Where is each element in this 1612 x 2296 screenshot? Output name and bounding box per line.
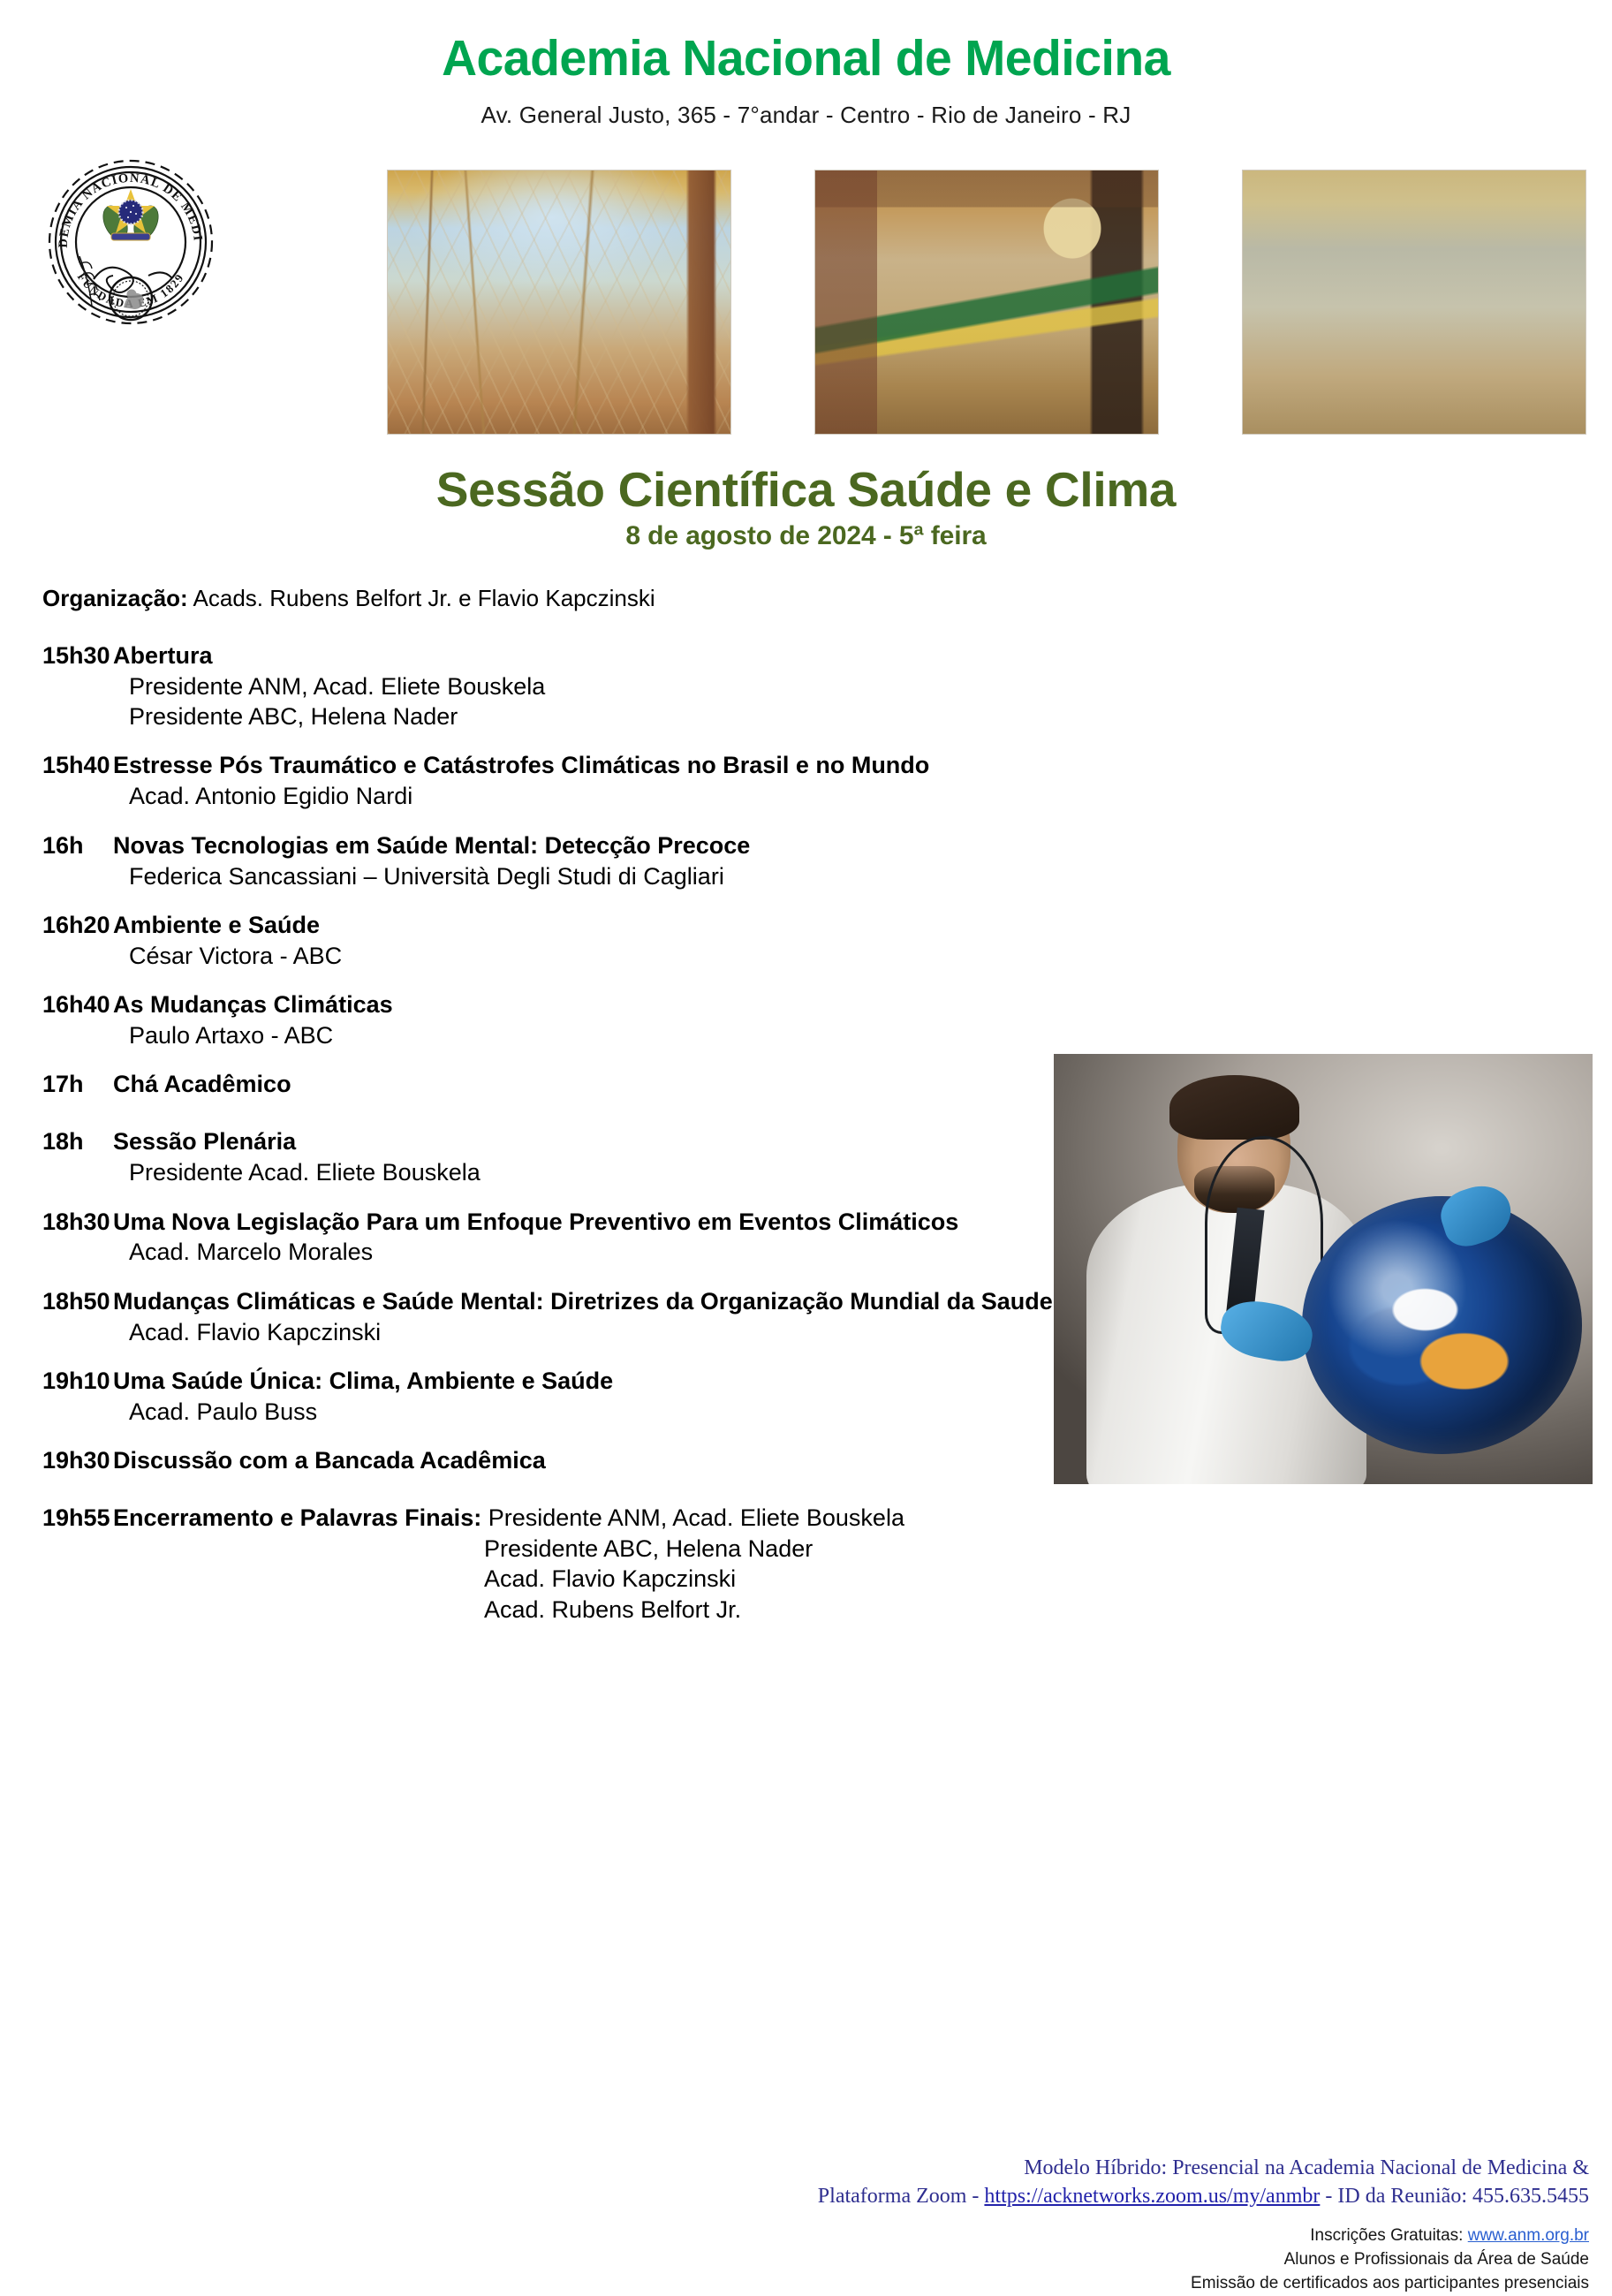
closing-label: Encerramento e Palavras Finais: — [113, 1504, 481, 1531]
program-speaker: Presidente Acad. Eliete Bouskela — [113, 1158, 1612, 1186]
program-item-8: 18h30 Uma Nova Legislação Para um Enfoqu… — [0, 1209, 1612, 1267]
program-title: Abertura — [113, 642, 1612, 671]
header-paintings-row — [387, 170, 1588, 435]
program-speaker: Presidente ABC, Helena Nader — [113, 702, 1612, 731]
program-item-2: 15h40 Estresse Pós Traumático e Catástro… — [0, 752, 1612, 810]
program-speaker: César Victora - ABC — [113, 942, 1612, 970]
program-time: 15h30 — [0, 642, 113, 731]
program-title: Estresse Pós Traumático e Catástrofes Cl… — [113, 752, 1612, 780]
organization-address: Av. General Justo, 365 - 7°andar - Centr… — [0, 102, 1612, 129]
program-time: 16h20 — [0, 912, 113, 970]
program-item-9: 18h50 Mudanças Climáticas e Saúde Mental… — [0, 1288, 1612, 1346]
program-title: Ambiente e Saúde — [113, 912, 1612, 940]
program-title-closing: Encerramento e Palavras Finais: Presiden… — [113, 1504, 1612, 1533]
program-time: 19h10 — [0, 1368, 113, 1426]
anm-website-link[interactable]: www.anm.org.br — [1468, 2226, 1589, 2245]
program-title: Uma Nova Legislação Para um Enfoque Prev… — [113, 1209, 1612, 1237]
program-title: Mudanças Climáticas e Saúde Mental: Dire… — [113, 1288, 1612, 1316]
program-item-11: 19h30 Discussão com a Bancada Acadêmica — [0, 1447, 1612, 1475]
program-speaker: Acad. Marcelo Morales — [113, 1238, 1612, 1266]
session-title-block: Sessão Científica Saúde e Clima 8 de ago… — [0, 465, 1612, 551]
session-date: 8 de agosto de 2024 - 5ª feira — [0, 521, 1612, 551]
coat-of-arms-icon — [98, 189, 163, 243]
program-time: 17h — [0, 1071, 113, 1099]
registration-line: Inscrições Gratuitas: www.anm.org.br — [1191, 2224, 1589, 2248]
program-item-4: 16h20 Ambiente e Saúde César Victora - A… — [0, 912, 1612, 970]
program-time: 19h30 — [0, 1447, 113, 1475]
program-time: 16h — [0, 832, 113, 890]
program-time: 19h55 — [0, 1504, 113, 1624]
program-title: Discussão com a Bancada Acadêmica — [113, 1447, 1612, 1475]
program-time: 18h — [0, 1128, 113, 1186]
program-speaker: Presidente ANM, Acad. Eliete Bouskela — [113, 672, 1612, 701]
registration-footer: Inscrições Gratuitas: www.anm.org.br Alu… — [1191, 2224, 1589, 2296]
hybrid-line-1: Modelo Híbrido: Presencial na Academia N… — [0, 2154, 1589, 2182]
painting-physicians-white-coats — [1242, 170, 1586, 435]
organizacao-value: Acads. Rubens Belfort Jr. e Flavio Kapcz… — [193, 585, 655, 611]
program-item-7: 18h Sessão Plenária Presidente Acad. Eli… — [0, 1128, 1612, 1186]
program-item-10: 19h10 Uma Saúde Única: Clima, Ambiente e… — [0, 1368, 1612, 1426]
hybrid-mode-footer: Modelo Híbrido: Presencial na Academia N… — [0, 2154, 1589, 2211]
certificate-line: Emissão de certificados aos participante… — [1191, 2272, 1589, 2296]
zoom-meeting-id: - ID da Reunião: 455.635.5455 — [1320, 2185, 1589, 2208]
hybrid-line-2: Plataforma Zoom - https://acknetworks.zo… — [0, 2182, 1589, 2210]
program-time: 16h40 — [0, 991, 113, 1049]
audience-line: Alunos e Profissionais da Área de Saúde — [1191, 2248, 1589, 2272]
organizacao-label: Organização: — [42, 585, 188, 611]
closing-name: Presidente ABC, Helena Nader — [113, 1534, 1612, 1563]
program-title: Uma Saúde Única: Clima, Ambiente e Saúde — [113, 1368, 1612, 1396]
program-item-5: 16h40 As Mudanças Climáticas Paulo Artax… — [0, 991, 1612, 1049]
program-item-6: 17h Chá Acadêmico — [0, 1071, 1612, 1099]
anm-seal-logo: ACADEMIA NACIONAL DE MEDICINA FUNDADA EM… — [42, 150, 219, 331]
document-header: Academia Nacional de Medicina Av. Genera… — [0, 0, 1612, 459]
program-time: 18h30 — [0, 1209, 113, 1267]
closing-first-name: Presidente ANM, Acad. Eliete Bouskela — [481, 1504, 904, 1531]
program-speaker: Federica Sancassiani – Università Degli … — [113, 862, 1612, 890]
program-title: Sessão Plenária — [113, 1128, 1612, 1156]
program-time: 15h40 — [0, 752, 113, 810]
program-title: Novas Tecnologias em Saúde Mental: Detec… — [113, 832, 1612, 860]
program-title: Chá Acadêmico — [113, 1071, 1612, 1099]
program-speaker: Acad. Antonio Egidio Nardi — [113, 782, 1612, 810]
program-item-3: 16h Novas Tecnologias em Saúde Mental: D… — [0, 832, 1612, 890]
closing-name: Acad. Flavio Kapczinski — [113, 1565, 1612, 1593]
program-speaker: Acad. Flavio Kapczinski — [113, 1318, 1612, 1346]
organization-title: Academia Nacional de Medicina — [24, 0, 1587, 84]
session-title: Sessão Científica Saúde e Clima — [0, 465, 1612, 516]
program-item-12: 19h55 Encerramento e Palavras Finais: Pr… — [0, 1504, 1612, 1624]
registration-label: Inscrições Gratuitas: — [1310, 2226, 1467, 2245]
program-speaker: Paulo Artaxo - ABC — [113, 1021, 1612, 1049]
zoom-platform-label: Plataforma Zoom - — [818, 2185, 985, 2208]
organizacao-line: Organização: Acads. Rubens Belfort Jr. e… — [42, 585, 1612, 612]
zoom-meeting-link[interactable]: https://acknetworks.zoom.us/my/anmbr — [984, 2185, 1320, 2208]
closing-name: Acad. Rubens Belfort Jr. — [113, 1595, 1612, 1624]
program-schedule: 15h30 Abertura Presidente ANM, Acad. Eli… — [0, 642, 1612, 1624]
program-time: 18h50 — [0, 1288, 113, 1346]
program-title: As Mudanças Climáticas — [113, 991, 1612, 1019]
program-item-1: 15h30 Abertura Presidente ANM, Acad. Eli… — [0, 642, 1612, 731]
program-speaker: Acad. Paulo Buss — [113, 1398, 1612, 1426]
painting-founding-session-interior — [814, 170, 1159, 435]
painting-arrival-ship-scene — [387, 170, 731, 435]
